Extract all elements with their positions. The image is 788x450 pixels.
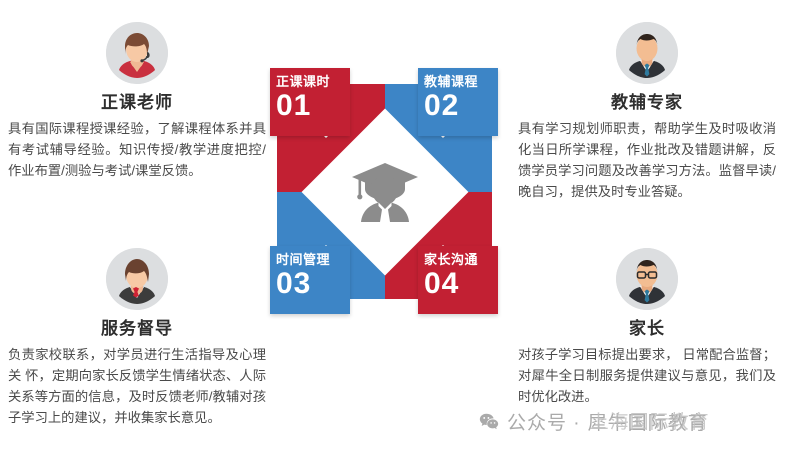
person-title: 家长 (518, 314, 776, 339)
diagram-label-number: 04 (424, 268, 492, 300)
diagram-label-03[interactable]: 时间管理 03 (270, 246, 350, 314)
person-title: 服务督导 (8, 314, 266, 339)
wechat-icon (478, 411, 500, 433)
avatar-wrap (8, 248, 266, 310)
male-suit-avatar-icon (616, 22, 678, 84)
diagram-label-number: 02 (424, 90, 492, 122)
diagram-label-number: 01 (276, 90, 344, 122)
watermark: 公众号 · 犀牛国际教育 上海国际教育 (478, 408, 708, 435)
diagram-label-title: 时间管理 (276, 252, 344, 267)
female-headset-avatar-icon (106, 22, 168, 84)
diagram-label-title: 教辅课程 (424, 74, 492, 89)
avatar-wrap (518, 22, 776, 84)
female-suit-avatar-icon (106, 248, 168, 310)
watermark-brand-stack: 犀牛国际教育 上海国际教育 (588, 408, 708, 435)
person-description: 对孩子学习目标提出要求， 日常配合监督；对犀牛全日制服务提供建议与意见，我们及时… (518, 344, 776, 407)
avatar-wrap (8, 22, 266, 84)
person-title: 正课老师 (8, 88, 266, 113)
person-card-tutor-expert: 教辅专家 具有学习规划师职责，帮助学生及时吸收消化当日所学课程，作业批改及错题讲… (518, 22, 776, 202)
person-card-parent: 家长 对孩子学习目标提出要求， 日常配合监督；对犀牛全日制服务提供建议与意见，我… (518, 248, 776, 407)
diagram-label-number: 03 (276, 268, 344, 300)
graduate-student-icon (342, 149, 428, 235)
diagram-label-04[interactable]: 家长沟通 04 (418, 246, 498, 314)
person-description: 负责家校联系，对学员进行生活指导及心理关 怀，定期向家长反馈学生情绪状态、人际关… (8, 344, 266, 428)
avatar-wrap (518, 248, 776, 310)
diagram-label-02[interactable]: 教辅课程 02 (418, 68, 498, 136)
watermark-brand-overlay: 上海国际教育 (590, 407, 710, 434)
person-card-service-supervisor: 服务督导 负责家校联系，对学员进行生活指导及心理关 怀，定期向家长反馈学生情绪状… (8, 248, 266, 428)
watermark-prefix: 公众号 · (507, 408, 581, 435)
diagram-label-title: 家长沟通 (424, 252, 492, 267)
central-cycle-diagram: 正课课时 01 教辅课程 02 时间管理 03 家长沟通 04 (258, 62, 510, 320)
person-description: 具有国际课程授课经验，了解课程体系并具有考试辅导经验。知识传授/教学进度把控/作… (8, 118, 266, 181)
person-title: 教辅专家 (518, 88, 776, 113)
diagram-label-title: 正课课时 (276, 74, 344, 89)
male-glasses-avatar-icon (616, 248, 678, 310)
person-description: 具有学习规划师职责，帮助学生及时吸收消化当日所学课程，作业批改及错题讲解，反馈学… (518, 118, 776, 202)
infographic-canvas: 正课老师 具有国际课程授课经验，了解课程体系并具有考试辅导经验。知识传授/教学进… (0, 0, 788, 450)
person-card-main-teacher: 正课老师 具有国际课程授课经验，了解课程体系并具有考试辅导经验。知识传授/教学进… (8, 22, 266, 181)
diagram-label-01[interactable]: 正课课时 01 (270, 68, 350, 136)
